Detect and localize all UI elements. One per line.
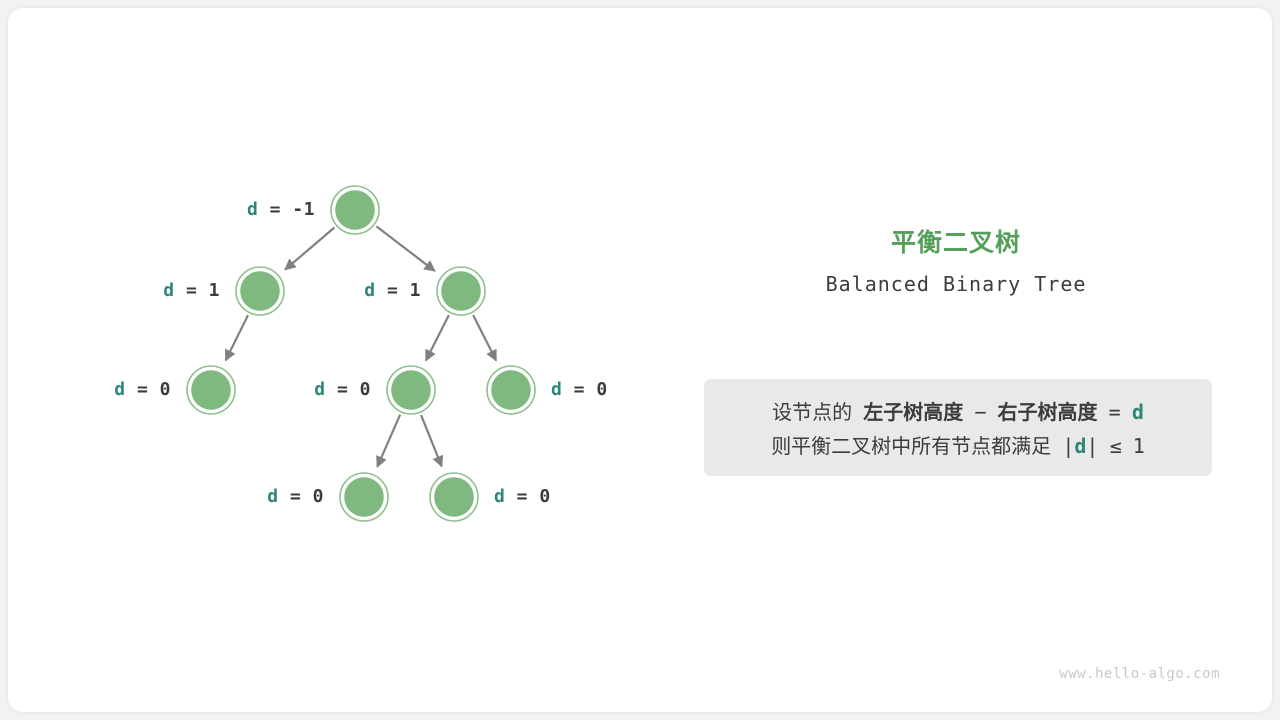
balance-value: = 0 xyxy=(326,379,371,400)
node-body xyxy=(391,370,431,410)
definition-line-1: 设节点的 左子树高度 − 右子树高度 = d xyxy=(704,396,1212,430)
less-equal-sign: ≤ xyxy=(1110,434,1122,458)
equals-sign: = xyxy=(1109,400,1121,424)
balance-variable: d xyxy=(551,379,562,400)
balance-value: = 0 xyxy=(505,486,550,507)
balance-value: = 1 xyxy=(175,280,220,301)
node-balance-label: d = 1 xyxy=(364,280,421,301)
balance-variable: d xyxy=(163,280,174,301)
balance-variable: d xyxy=(267,486,278,507)
page-title: 平衡二叉树 xyxy=(668,223,1244,259)
node-balance-label: d = 1 xyxy=(163,280,220,301)
info-panel: 平衡二叉树 Balanced Binary Tree xyxy=(668,223,1244,296)
balance-variable: d xyxy=(494,486,505,507)
node-body xyxy=(240,271,280,311)
balance-variable: d xyxy=(314,379,325,400)
balance-variable: d xyxy=(114,379,125,400)
node-balance-label: d = 0 xyxy=(114,379,171,400)
tree-node[interactable] xyxy=(430,473,478,521)
tree-node[interactable] xyxy=(340,473,388,521)
tree-node[interactable] xyxy=(437,267,485,315)
node-balance-label: d = 0 xyxy=(314,379,371,400)
balance-variable: d xyxy=(247,199,258,220)
constraint-prefix: 则平衡二叉树中所有节点都满足 xyxy=(771,436,1051,458)
node-body xyxy=(434,477,474,517)
tree-nodes xyxy=(187,186,535,521)
balance-value: = 0 xyxy=(126,379,171,400)
abs-bar-open: | xyxy=(1062,434,1074,458)
tree-edge xyxy=(377,415,400,467)
abs-bar-close: | xyxy=(1086,434,1098,458)
tree-edges xyxy=(226,226,496,466)
left-subtree-height-term: 左子树高度 xyxy=(863,402,963,424)
tree-node[interactable] xyxy=(487,366,535,414)
variable-d-abs: d xyxy=(1074,434,1086,458)
tree-node[interactable] xyxy=(236,267,284,315)
right-subtree-height-term: 右子树高度 xyxy=(998,402,1098,424)
definition-box: 设节点的 左子树高度 − 右子树高度 = d 则平衡二叉树中所有节点都满足 |d… xyxy=(704,379,1212,476)
binary-tree-diagram xyxy=(8,8,668,608)
node-balance-label: d = -1 xyxy=(247,199,315,220)
tree-edge xyxy=(421,415,442,466)
tree-node[interactable] xyxy=(387,366,435,414)
page-subtitle: Balanced Binary Tree xyxy=(668,272,1244,296)
node-balance-label: d = 0 xyxy=(551,379,608,400)
content-card: d = -1d = 1d = 1d = 0d = 0d = 0d = 0d = … xyxy=(8,8,1272,712)
balance-value: = -1 xyxy=(258,199,315,220)
balance-value: = 1 xyxy=(376,280,421,301)
tree-edge xyxy=(473,315,496,360)
tree-edge xyxy=(376,226,434,271)
minus-sign: − xyxy=(974,400,986,424)
node-body xyxy=(191,370,231,410)
node-body xyxy=(491,370,531,410)
tree-node[interactable] xyxy=(331,186,379,234)
variable-d: d xyxy=(1132,400,1144,424)
tree-edge xyxy=(285,228,334,270)
node-balance-label: d = 0 xyxy=(494,486,551,507)
balance-value: = 0 xyxy=(562,379,607,400)
node-body xyxy=(441,271,481,311)
definition-line-2: 则平衡二叉树中所有节点都满足 |d| ≤ 1 xyxy=(704,430,1212,464)
definition-prefix: 设节点的 xyxy=(772,402,852,424)
balance-value: = 0 xyxy=(279,486,324,507)
tree-edge xyxy=(426,315,449,360)
screenshot-root: d = -1d = 1d = 1d = 0d = 0d = 0d = 0d = … xyxy=(0,0,1280,720)
node-balance-label: d = 0 xyxy=(267,486,324,507)
tree-edge xyxy=(226,315,248,360)
tree-node[interactable] xyxy=(187,366,235,414)
node-body xyxy=(344,477,384,517)
balance-variable: d xyxy=(364,280,375,301)
node-body xyxy=(335,190,375,230)
constraint-value: 1 xyxy=(1133,434,1145,458)
watermark: www.hello-algo.com xyxy=(1059,666,1220,682)
